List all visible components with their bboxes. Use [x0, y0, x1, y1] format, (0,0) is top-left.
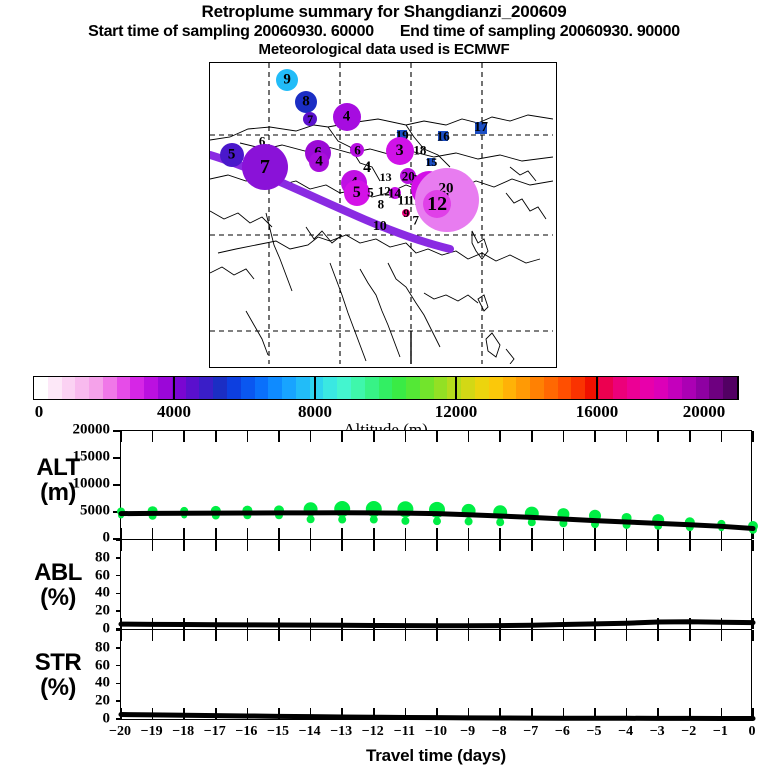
colorbar-cell: [682, 377, 696, 399]
colorbar-cell: [599, 377, 613, 399]
colorbar-cell: [516, 377, 530, 399]
header-block: Retroplume summary for Shangdianzi_20060…: [0, 0, 768, 59]
colorbar-cell: [89, 377, 103, 399]
day-bubble-layer: 9874191617657631815644455131214203811119…: [210, 63, 553, 364]
colorbar-cell: [558, 377, 572, 399]
x-axis-tick-label: −13: [330, 724, 352, 740]
y-axis-tick-label: 80: [2, 549, 110, 566]
day-bubble-label: 5: [353, 185, 361, 201]
x-axis-tick-label: −6: [555, 724, 570, 740]
colorbar-cell: [310, 377, 324, 399]
altitude-scatter-point: [401, 517, 409, 525]
x-axis-tick-label: −20: [109, 724, 131, 740]
colorbar-cell: [406, 377, 420, 399]
colorbar-cell: [34, 377, 48, 399]
colorbar-cell: [62, 377, 76, 399]
alt-series: [121, 431, 753, 539]
y-axis-tick: [113, 484, 121, 486]
x-axis-tick-label: −15: [267, 724, 289, 740]
colorbar-divider: [314, 376, 316, 400]
day-bubble-label: 4: [343, 109, 351, 124]
y-axis-tick-label: 60: [2, 657, 110, 674]
altitude-scatter-point: [465, 517, 473, 525]
colorbar-cell: [337, 377, 351, 399]
met-data-label: Meteorological data used is ECMWF: [0, 41, 768, 59]
colorbar-divider: [173, 376, 175, 400]
altitude-scatter-point: [433, 517, 441, 525]
colorbar-cell: [130, 377, 144, 399]
colorbar-cell: [268, 377, 282, 399]
y-axis-tick-label: 0: [2, 711, 110, 728]
x-axis-tick-label: −14: [299, 724, 321, 740]
colorbar-tick-label: 8000: [298, 402, 332, 422]
day-bubble-label: 15: [425, 156, 437, 168]
x-axis-tick-labels: −20−19−18−17−16−15−14−13−12−11−10−9−8−7−…: [0, 724, 768, 744]
str-panel[interactable]: [120, 630, 752, 720]
colorbar-cell: [144, 377, 158, 399]
colorbar-divider: [737, 376, 739, 400]
x-axis-tick-label: −3: [650, 724, 665, 740]
x-axis-tick-label: −10: [425, 724, 447, 740]
x-axis-tick-label: −7: [523, 724, 538, 740]
colorbar-gradient: [33, 376, 738, 400]
day-bubble-label: 9: [283, 72, 291, 87]
colorbar-cell: [392, 377, 406, 399]
colorbar-tick-label: 0: [35, 402, 44, 422]
colorbar-tick-label: 4000: [157, 402, 191, 422]
retroplume-map[interactable]: 9874191617657631815644455131214203811119…: [209, 62, 557, 368]
x-axis-title: Travel time (days): [120, 746, 752, 766]
colorbar-cell: [544, 377, 558, 399]
colorbar-cell: [255, 377, 269, 399]
day-bubble-label: 6: [354, 143, 361, 156]
colorbar-cell: [199, 377, 213, 399]
colorbar-cell: [365, 377, 379, 399]
colorbar-cell: [461, 377, 475, 399]
altitude-scatter-point: [307, 515, 315, 523]
day-bubble-label: 9: [403, 207, 409, 219]
abl-mean-line: [121, 622, 753, 626]
x-axis-tick-label: −12: [362, 724, 384, 740]
colorbar-tick-label: 12000: [435, 402, 478, 422]
page-title: Retroplume summary for Shangdianzi_20060…: [0, 2, 768, 22]
colorbar-cell: [654, 377, 668, 399]
sampling-time-line: Start time of sampling 20060930. 60000En…: [0, 22, 768, 41]
colorbar-divider: [455, 376, 457, 400]
colorbar-tick-label: 20000: [683, 402, 726, 422]
abl-series: [121, 540, 753, 629]
colorbar-cell: [489, 377, 503, 399]
colorbar-cell: [420, 377, 434, 399]
colorbar-cell: [186, 377, 200, 399]
y-axis-tick-label: 20000: [2, 422, 110, 439]
colorbar-cell: [503, 377, 517, 399]
colorbar-cell: [571, 377, 585, 399]
y-axis-tick-label: 20: [2, 693, 110, 710]
y-axis-tick-label: 15000: [2, 449, 110, 466]
colorbar-cell: [613, 377, 627, 399]
day-bubble-label: 13: [380, 171, 392, 183]
day-bubble-label: 5: [228, 147, 236, 162]
colorbar-cell: [282, 377, 296, 399]
colorbar-cell: [530, 377, 544, 399]
y-axis-tick-label: 80: [2, 639, 110, 656]
colorbar-cell: [475, 377, 489, 399]
colorbar-cell: [48, 377, 62, 399]
x-axis-tick-label: −9: [460, 724, 475, 740]
altitude-scatter-point: [338, 516, 346, 524]
x-axis-tick-label: −5: [587, 724, 602, 740]
str-mean-line: [121, 715, 753, 719]
day-bubble-label: 16: [437, 130, 450, 143]
x-axis-tick-label: −16: [235, 724, 257, 740]
day-bubble-label: 10: [373, 220, 387, 234]
colorbar-cell: [351, 377, 365, 399]
colorbar-cell: [75, 377, 89, 399]
x-axis-tick-label: −19: [141, 724, 163, 740]
colorbar-cell: [296, 377, 310, 399]
day-bubble-label: 7: [307, 113, 313, 125]
altitude-colorbar[interactable]: 040008000120001600020000 Altitude (m): [33, 376, 738, 400]
y-axis-tick-label: 5000: [2, 503, 110, 520]
x-axis-tick-label: −11: [394, 724, 415, 740]
colorbar-divider: [596, 376, 598, 400]
alt-panel[interactable]: [120, 430, 752, 540]
colorbar-cell: [227, 377, 241, 399]
altitude-scatter-point: [370, 516, 378, 524]
day-bubble-label: 3: [396, 143, 404, 159]
day-bubble-label: 4: [363, 160, 371, 176]
x-axis-tick-label: −4: [618, 724, 633, 740]
x-axis-tick-label: −17: [204, 724, 226, 740]
colorbar-cell: [723, 377, 737, 399]
colorbar-tick-label: 16000: [576, 402, 619, 422]
day-bubble-label: 4: [315, 155, 323, 170]
colorbar-cell: [241, 377, 255, 399]
day-bubble-label: 5: [367, 185, 374, 198]
day-bubble-label: 8: [302, 94, 310, 109]
start-time-label: Start time of sampling 20060930. 60000: [88, 23, 374, 40]
colorbar-cell: [709, 377, 723, 399]
colorbar-cell: [213, 377, 227, 399]
y-axis-tick-label: 20: [2, 603, 110, 620]
colorbar-cell: [696, 377, 710, 399]
x-axis-tick-label: −2: [681, 724, 696, 740]
day-bubble-label: 12: [427, 194, 447, 214]
y-axis-tick-label: 60: [2, 567, 110, 584]
y-axis-tick-label: 40: [2, 585, 110, 602]
abl-panel[interactable]: [120, 540, 752, 630]
colorbar-cell: [434, 377, 448, 399]
colorbar-cell: [323, 377, 337, 399]
altitude-scatter-point: [496, 518, 504, 526]
colorbar-cell: [103, 377, 117, 399]
x-axis-tick-label: −18: [172, 724, 194, 740]
colorbar-cell: [640, 377, 654, 399]
end-time-label: End time of sampling 20060930. 90000: [400, 23, 680, 40]
x-axis-tick-label: −8: [492, 724, 507, 740]
day-bubble-label: 17: [474, 121, 488, 135]
y-axis-tick: [113, 457, 121, 459]
colorbar-cell: [668, 377, 682, 399]
x-axis-tick-label: 0: [749, 724, 756, 740]
day-bubble-label: 7: [260, 157, 270, 177]
y-axis-tick-label: 10000: [2, 476, 110, 493]
day-bubble-label: 8: [378, 198, 385, 211]
colorbar-cell: [379, 377, 393, 399]
colorbar-cell: [158, 377, 172, 399]
colorbar-cell: [117, 377, 131, 399]
y-axis-tick-label: 40: [2, 675, 110, 692]
str-series: [121, 630, 753, 719]
colorbar-cell: [627, 377, 641, 399]
x-axis-tick-label: −1: [713, 724, 728, 740]
y-axis-tick-label: 0: [2, 621, 110, 638]
y-axis-tick-label: 0: [2, 530, 110, 547]
